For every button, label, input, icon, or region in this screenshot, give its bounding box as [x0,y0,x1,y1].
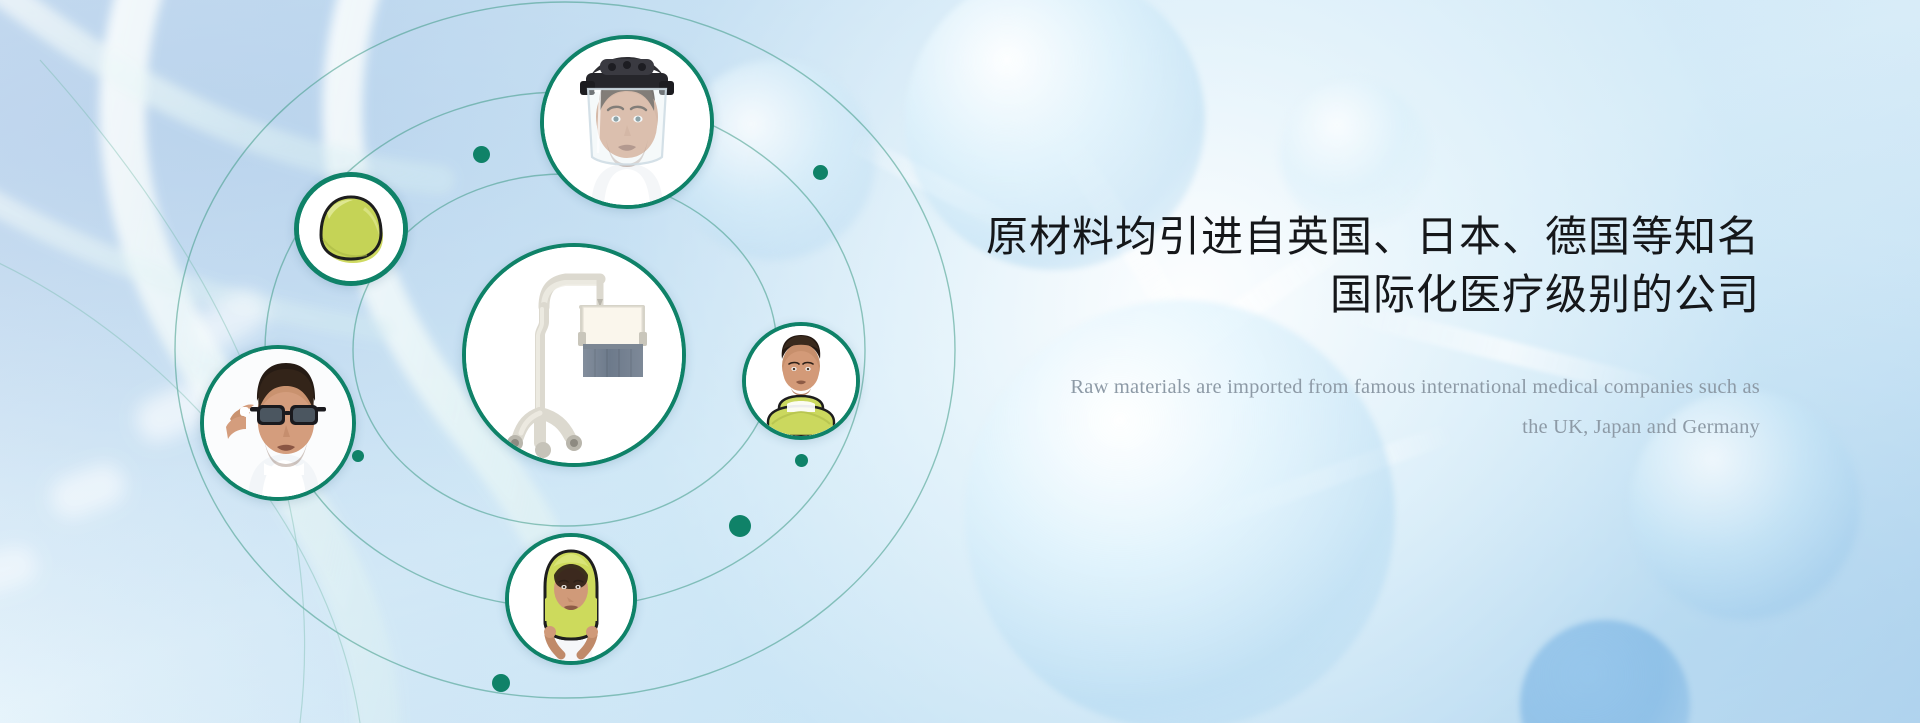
face-shield-photo[interactable] [540,35,714,209]
subtitle-line-1: Raw materials are imported from famous i… [1070,376,1760,398]
accent-dot [795,454,808,467]
banner-stage: 原材料均引进自英国、日本、德国等知名 国际化医疗级别的公司 Raw materi… [0,0,1920,723]
accent-dot [352,450,364,462]
headline-line-1: 原材料均引进自英国、日本、德国等知名 [986,212,1760,261]
lead-hood-photo-image [509,537,633,661]
accent-dot [729,515,751,537]
banner-copy: 原材料均引进自英国、日本、德国等知名 国际化医疗级别的公司 Raw materi… [970,208,1760,448]
lead-hood-photo[interactable] [505,533,637,665]
mobile-lead-screen-photo[interactable] [462,243,686,467]
lead-cap-photo[interactable] [294,172,408,286]
lead-cap-photo-image [299,177,403,281]
headline: 原材料均引进自英国、日本、德国等知名 国际化医疗级别的公司 [970,208,1760,324]
face-shield-photo-image [544,39,710,205]
lead-glasses-photo[interactable] [200,345,356,501]
thyroid-collar-photo-image [746,326,856,436]
thyroid-collar-photo[interactable] [742,322,860,440]
accent-dot [813,165,828,180]
subtitle-line-2: the UK, Japan and Germany [970,408,1760,448]
accent-dot [492,674,510,692]
mobile-lead-screen-photo-image [466,247,682,463]
headline-line-2: 国际化医疗级别的公司 [970,266,1760,324]
accent-dot [473,146,490,163]
subtitle: Raw materials are imported from famous i… [970,368,1760,448]
lead-glasses-photo-image [204,349,352,497]
